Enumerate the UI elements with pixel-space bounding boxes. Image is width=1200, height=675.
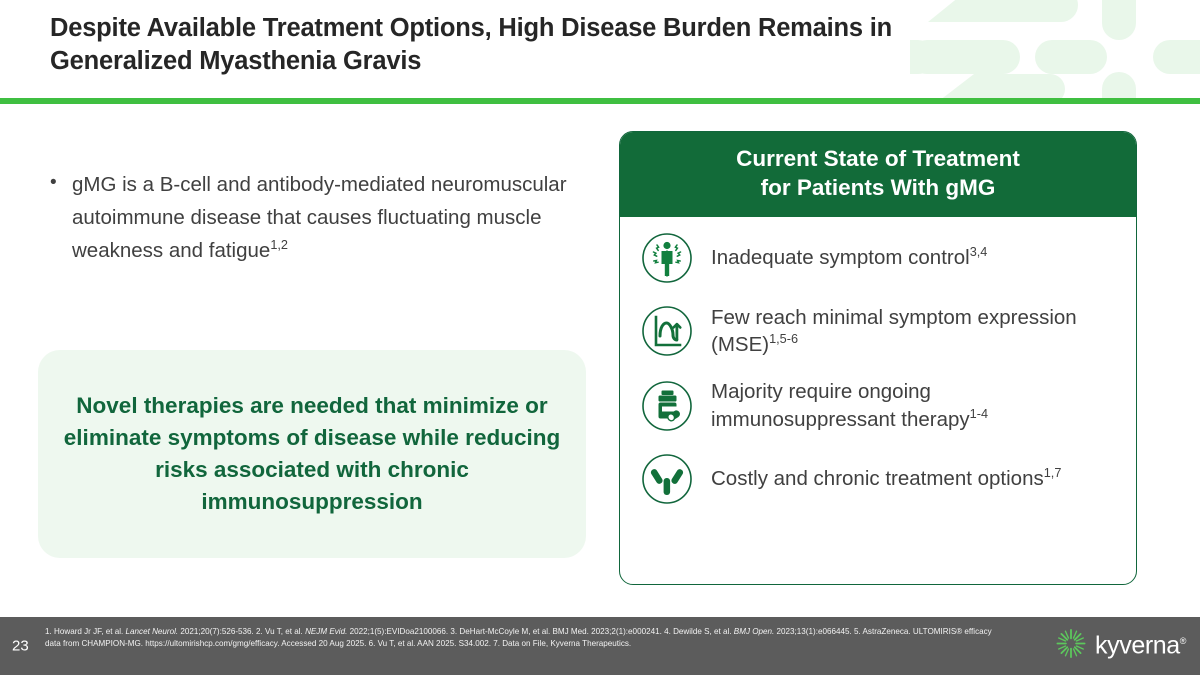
ref-seg-3: 2022;1(5):EVIDoa2100066. 3. DeHart-McCoy… bbox=[347, 627, 733, 636]
logo-wordmark-text: kyverna bbox=[1095, 632, 1180, 660]
ref-journal-3: BMJ Open. bbox=[734, 627, 775, 636]
references-text: 1. Howard Jr JF, et al. Lancet Neurol. 2… bbox=[45, 626, 1000, 651]
ref-seg-2: 2021;20(7):526-536. 2. Vu T, et al. bbox=[178, 627, 305, 636]
bullet-marker: • bbox=[50, 168, 72, 268]
person-in-pain-icon bbox=[640, 231, 694, 285]
list-item-citation: 1,5-6 bbox=[769, 331, 798, 346]
starburst-icon bbox=[1054, 627, 1088, 666]
current-state-panel: Current State of Treatment for Patients … bbox=[619, 131, 1137, 585]
list-item-text: Majority require ongoing immunosuppressa… bbox=[711, 380, 970, 431]
ref-seg-4: 2023;13(1):e066445. 5. bbox=[774, 627, 860, 636]
page-title: Despite Available Treatment Options, Hig… bbox=[50, 12, 950, 78]
list-item-text: Few reach minimal symptom expression (MS… bbox=[711, 306, 1077, 357]
logo-wordmark: kyverna® bbox=[1095, 632, 1186, 661]
list-item-citation: 3,4 bbox=[970, 244, 988, 259]
list-item-label: Majority require ongoing immunosuppressa… bbox=[711, 378, 1118, 433]
registered-mark: ® bbox=[1180, 636, 1186, 646]
ref-journal-2: NEJM Evid. bbox=[305, 627, 347, 636]
panel-body: Inadequate symptom control3,4 Few reach … bbox=[620, 217, 1136, 517]
slide: Despite Available Treatment Options, Hig… bbox=[0, 0, 1200, 675]
list-item-text: Costly and chronic treatment options bbox=[711, 467, 1044, 490]
bullet-body: gMG is a B-cell and antibody-mediated ne… bbox=[72, 173, 567, 262]
panel-header: Current State of Treatment for Patients … bbox=[620, 132, 1136, 217]
panel-header-line-1: Current State of Treatment bbox=[630, 144, 1126, 173]
bullet-citation: 1,2 bbox=[270, 238, 288, 253]
list-item-label: Few reach minimal symptom expression (MS… bbox=[711, 304, 1118, 359]
page-number: 23 bbox=[12, 638, 29, 655]
list-item-citation: 1,7 bbox=[1044, 466, 1062, 481]
kyverna-logo: kyverna® bbox=[1054, 627, 1186, 666]
footer-bar: 23 1. Howard Jr JF, et al. Lancet Neurol… bbox=[0, 617, 1200, 675]
panel-header-line-2: for Patients With gMG bbox=[630, 173, 1126, 202]
list-item: Inadequate symptom control3,4 bbox=[640, 231, 1118, 285]
list-item-label: Inadequate symptom control3,4 bbox=[711, 244, 987, 272]
callout-box: Novel therapies are needed that minimize… bbox=[38, 350, 586, 558]
decorative-pills-graphic bbox=[910, 0, 1200, 100]
title-divider bbox=[0, 98, 1200, 104]
list-item: Majority require ongoing immunosuppressa… bbox=[640, 378, 1118, 433]
chart-wave-icon bbox=[640, 304, 694, 358]
callout-text: Novel therapies are needed that minimize… bbox=[60, 390, 564, 518]
ref-journal-1: Lancet Neurol. bbox=[126, 627, 179, 636]
list-item-text: Inadequate symptom control bbox=[711, 246, 970, 269]
list-item-label: Costly and chronic treatment options1,7 bbox=[711, 465, 1061, 493]
list-item-citation: 1-4 bbox=[970, 406, 988, 421]
pill-bottle-icon bbox=[640, 379, 694, 433]
antibody-icon bbox=[640, 452, 694, 506]
list-item: Costly and chronic treatment options1,7 bbox=[640, 452, 1118, 506]
bullet-text: gMG is a B-cell and antibody-mediated ne… bbox=[72, 168, 595, 268]
ref-seg-1: 1. Howard Jr JF, et al. bbox=[45, 627, 126, 636]
list-item: Few reach minimal symptom expression (MS… bbox=[640, 304, 1118, 359]
bullet-list-item: • gMG is a B-cell and antibody-mediated … bbox=[50, 168, 595, 268]
